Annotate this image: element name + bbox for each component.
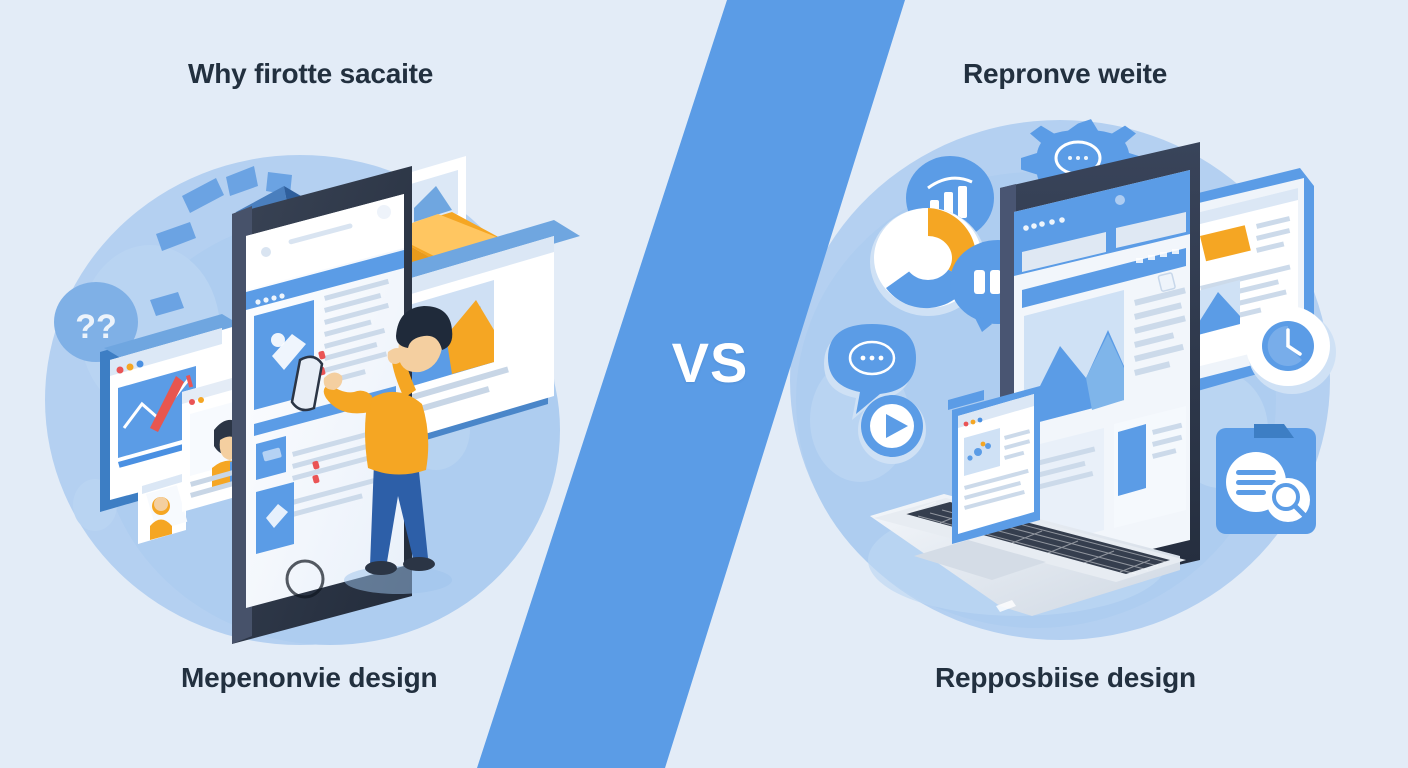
document-search-icon xyxy=(1216,424,1316,534)
left-illustration: ?? xyxy=(0,0,700,768)
left-title: Why firotte sacaite xyxy=(188,58,433,90)
right-caption: Repposbiise design xyxy=(935,662,1196,694)
illustration-canvas: ?? xyxy=(0,0,1408,768)
svg-text:??: ?? xyxy=(75,308,117,346)
right-illustration xyxy=(700,0,1408,768)
vs-label: VS xyxy=(650,330,770,395)
left-caption: Mepenonvie design xyxy=(181,662,437,694)
browser-window-small xyxy=(948,386,1040,544)
right-title: Repronve weite xyxy=(963,58,1167,90)
